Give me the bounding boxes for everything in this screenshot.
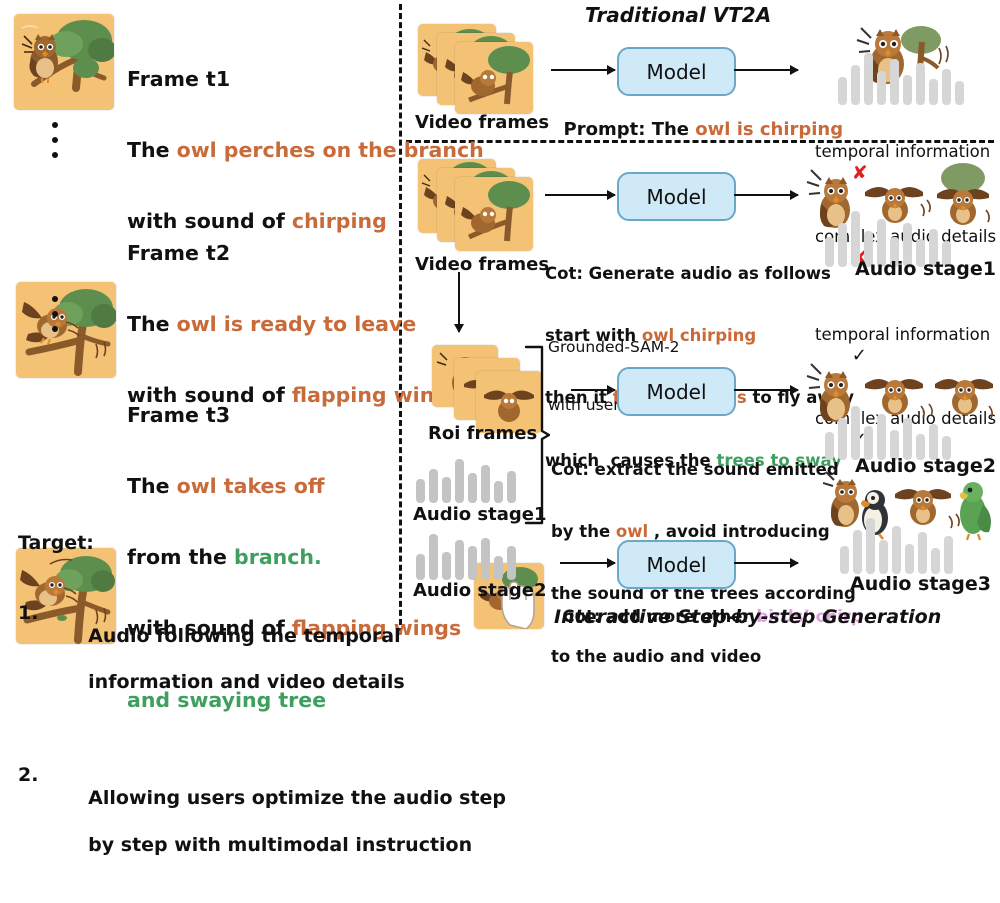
arrow-to-model-stage1: [545, 194, 615, 196]
target-item-2-number: 2.: [18, 764, 38, 880]
model-box-stage2: Model: [617, 367, 736, 416]
waveform-stage2-output: [825, 400, 951, 460]
waveform-stage3-input: [416, 528, 516, 580]
arrow-to-model-stage3: [560, 562, 615, 564]
ellipsis-dots-1: [52, 122, 58, 158]
sam-caption-line1: Grounded-SAM-2: [548, 338, 733, 357]
waveform-top: [838, 45, 964, 105]
video-frames-label-stage1: Video frames: [415, 255, 549, 276]
arrow-from-model-stage2: [734, 389, 798, 391]
cot-stage2-line2-accent: owl: [616, 522, 648, 541]
curly-brace-icon: [520, 345, 550, 525]
frame-image-t2: [16, 282, 116, 378]
audio-stage1-output-label: Audio stage1: [855, 258, 996, 280]
arrow-to-model-stage2: [571, 389, 615, 391]
arrow-from-model-stage3: [734, 562, 798, 564]
owl-frame-thumb: [455, 177, 533, 251]
ellipsis-dots-2: [52, 296, 58, 332]
model-box-stage1: Model: [617, 172, 736, 221]
owl-perched-illustration: [14, 14, 114, 110]
target-item-1-number: 1.: [18, 602, 38, 718]
video-frames-label-top: Video frames: [415, 113, 549, 134]
frame-image-t1: [14, 14, 114, 110]
frame-t3-label: Frame t3: [127, 404, 461, 428]
video-frame-front: [455, 177, 533, 251]
cot-stage2-line4: to the audio and video: [551, 647, 856, 668]
video-frames-stack-top: [418, 24, 533, 112]
cot-stage2-line2-plain-b: , avoid introducing: [648, 522, 830, 541]
arrow-from-model-top: [734, 69, 798, 71]
cot-stage2-line2-plain-a: by the: [551, 522, 616, 541]
target-item-2-line2: by step with multimodal instruction: [88, 834, 472, 856]
owl-frame-thumb: [455, 42, 533, 114]
waveform-stage3-output: [840, 512, 953, 574]
frame-t2-line2-plain: The: [127, 312, 177, 336]
video-frame-front: [455, 42, 533, 114]
arrow-from-model-stage1: [734, 194, 798, 196]
waveform-stage2-input: [416, 455, 516, 503]
audio-stage3-output-label: Audio stage3: [850, 573, 991, 595]
target-item-2-line1: Allowing users optimize the audio step: [88, 787, 506, 809]
prompt-text-top: Prompt: The owl is chirping: [551, 99, 843, 141]
cot-stage2-line1: Cot: extract the sound emitted: [551, 460, 856, 481]
cot-stage1-line1: Cot: Generate audio as follows: [545, 264, 854, 285]
target-item-1-line1: Audio following the temporal: [88, 625, 400, 647]
target-item-1-line2: information and video details: [88, 671, 404, 693]
arrow-to-model-top: [551, 69, 615, 71]
arrow-down-to-roi: [458, 272, 460, 332]
target-item-1: 1. Audio following the temporal informat…: [18, 602, 506, 718]
footer-title: Interactive Step-by-step Generation: [554, 606, 941, 628]
owl-ready-to-leave-illustration: [16, 282, 116, 378]
model-box-stage3: Model: [617, 540, 736, 589]
frame-t2-label: Frame t2: [127, 242, 461, 266]
check-stage1-0-label: temporal information: [815, 325, 990, 344]
traditional-vt2a-title: Traditional VT2A: [585, 4, 771, 27]
model-box-top: Model: [617, 47, 736, 96]
video-frames-stack-stage1: [418, 159, 533, 251]
target-item-2: 2. Allowing users optimize the audio ste…: [18, 764, 506, 880]
frame-t2-line2-accent: owl is ready to leave: [177, 312, 417, 336]
prompt-label: Prompt: The: [564, 119, 696, 140]
frame-t1-line2-plain: The: [127, 138, 177, 162]
group-brace-stage2: [520, 345, 550, 525]
audio-stage2-input-label: Audio stage2: [413, 581, 547, 602]
